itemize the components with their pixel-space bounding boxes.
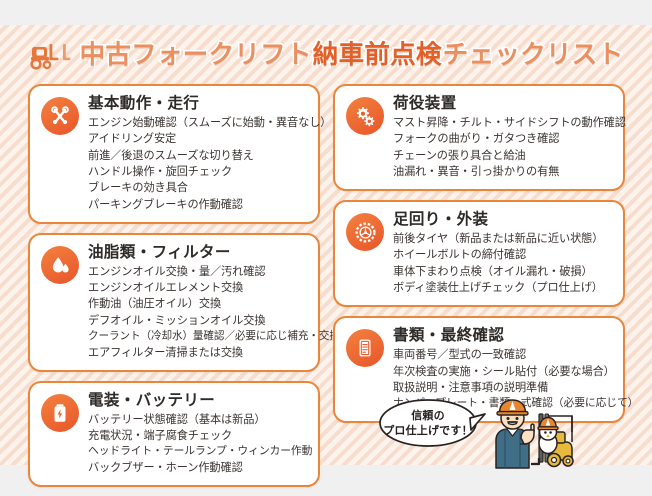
title-segment-light-1: 中古フォークリフト <box>80 43 312 69</box>
list-item: ボディ塗装仕上げチェック（プロ仕上げ） <box>393 280 612 296</box>
card-title: 電装・バッテリー <box>88 392 307 410</box>
list-item: ブレーキの効き具合 <box>88 180 307 196</box>
list-item: 充電状況・端子腐食チェック <box>88 428 307 444</box>
checklist: エンジンオイル交換・量／汚れ確認 エンジンオイルエレメント交換 作動油（油圧オイ… <box>88 264 307 361</box>
card-body: 電装・バッテリー バッテリー状態確認（基本は新品） 充電状況・端子腐食チェック … <box>88 392 307 477</box>
list-item: エンジンオイル交換・量／汚れ確認 <box>88 264 307 280</box>
card-body: 足回り・外装 前後タイヤ（新品または新品に近い状態） ホイールボルトの締付確認 … <box>393 211 612 296</box>
card-fluids-filters: 油脂類・フィルター エンジンオイル交換・量／汚れ確認 エンジンオイルエレメント交… <box>28 233 320 372</box>
list-item: ホイールボルトの締付確認 <box>393 247 612 263</box>
list-item: 取扱説明・注意事項の説明準備 <box>393 380 612 396</box>
list-item: 前後タイヤ（新品または新品に近い状態） <box>393 231 612 247</box>
speech-line-2: プロ仕上げです！ <box>383 424 473 439</box>
page-title: 中古フォークリフト 納車前点検 チェックリスト <box>0 34 652 78</box>
card-body: 荷役装置 マスト昇降・チルト・サイドシフトの動作確認 フォークの曲がり・ガタつき… <box>393 95 612 180</box>
title-segment-light-2: チェックリスト <box>443 43 624 69</box>
list-item: エアフィルター清掃または交換 <box>88 345 307 361</box>
left-column: 基本動作・走行 エンジン始動確認（スムーズに始動・異音なし） アイドリング安定 … <box>28 84 320 496</box>
list-item: ハンドル操作・旋回チェック <box>88 164 307 180</box>
right-column: 荷役装置 マスト昇降・チルト・サイドシフトの動作確認 フォークの曲がり・ガタつき… <box>333 84 625 432</box>
card-title: 書類・最終確認 <box>393 327 612 345</box>
gears-icon <box>346 97 384 135</box>
tire-icon <box>346 213 384 251</box>
battery-icon <box>41 394 79 432</box>
list-item: チェーンの張り具合と給油 <box>393 148 612 164</box>
document-icon <box>346 329 384 367</box>
checklist: マスト昇降・チルト・サイドシフトの動作確認 フォークの曲がり・ガタつき確認 チェ… <box>393 115 612 180</box>
card-title: 基本動作・走行 <box>88 95 307 113</box>
forklift-icon <box>29 41 71 71</box>
checklist: バッテリー状態確認（基本は新品） 充電状況・端子腐食チェック ヘッドライト・テー… <box>88 412 307 477</box>
list-item: エンジンオイルエレメント交換 <box>88 280 307 296</box>
card-title: 油脂類・フィルター <box>88 244 307 262</box>
card-load-handling: 荷役装置 マスト昇降・チルト・サイドシフトの動作確認 フォークの曲がり・ガタつき… <box>333 84 625 191</box>
list-item: 年次検査の実施・シール貼付（必要な場合） <box>393 364 612 380</box>
list-item: 油漏れ・異音・引っ掛かりの有無 <box>393 164 612 180</box>
title-segment-strong: 納車前点検 <box>313 43 442 69</box>
speech-bubble-text: 信頼の プロ仕上げです！ <box>378 398 478 450</box>
infographic-page: 中古フォークリフト 納車前点検 チェックリスト 基本動作・走行 <box>0 0 652 489</box>
list-item: 車体下まわり点検（オイル漏れ・破損） <box>393 264 612 280</box>
list-item: デフオイル・ミッションオイル交換 <box>88 313 307 329</box>
list-item: 作動油（油圧オイル）交換 <box>88 296 307 312</box>
list-item: マスト昇降・チルト・サイドシフトの動作確認 <box>393 115 612 131</box>
oil-drop-icon <box>41 246 79 284</box>
card-body: 油脂類・フィルター エンジンオイル交換・量／汚れ確認 エンジンオイルエレメント交… <box>88 244 307 361</box>
worker-thumbs-up-icon <box>496 400 534 468</box>
forklift-mascot-icon <box>531 414 573 467</box>
tools-icon <box>41 97 79 135</box>
list-item: アイドリング安定 <box>88 131 307 147</box>
speech-bubble: 信頼の プロ仕上げです！ <box>378 398 486 450</box>
list-item: フォークの曲がり・ガタつき確認 <box>393 131 612 147</box>
mascot-area: 信頼の プロ仕上げです！ <box>378 396 578 472</box>
list-item: バックブザー・ホーン作動確認 <box>88 460 307 476</box>
card-undercarriage-exterior: 足回り・外装 前後タイヤ（新品または新品に近い状態） ホイールボルトの締付確認 … <box>333 200 625 307</box>
list-item: ヘッドライト・テールランプ・ウィンカー作動 <box>88 444 307 460</box>
list-item: バッテリー状態確認（基本は新品） <box>88 412 307 428</box>
card-basic-operation: 基本動作・走行 エンジン始動確認（スムーズに始動・異音なし） アイドリング安定 … <box>28 84 320 224</box>
card-body: 基本動作・走行 エンジン始動確認（スムーズに始動・異音なし） アイドリング安定 … <box>88 95 307 213</box>
checklist: 前後タイヤ（新品または新品に近い状態） ホイールボルトの締付確認 車体下まわり点… <box>393 231 612 296</box>
list-item: パーキングブレーキの作動確認 <box>88 197 307 213</box>
list-item: 車両番号／型式の一致確認 <box>393 347 612 363</box>
list-item: 前進／後退のスムーズな切り替え <box>88 148 307 164</box>
card-title: 足回り・外装 <box>393 211 612 229</box>
list-item: クーラント（冷却水）量確認／必要に応じ補充・交換 <box>88 329 307 344</box>
speech-line-1: 信頼の <box>411 409 445 424</box>
list-item: エンジン始動確認（スムーズに始動・異音なし） <box>88 115 307 131</box>
card-electrical-battery: 電装・バッテリー バッテリー状態確認（基本は新品） 充電状況・端子腐食チェック … <box>28 381 320 488</box>
mascot-figures <box>486 396 578 472</box>
card-title: 荷役装置 <box>393 95 612 113</box>
checklist: エンジン始動確認（スムーズに始動・異音なし） アイドリング安定 前進／後退のスム… <box>88 115 307 213</box>
